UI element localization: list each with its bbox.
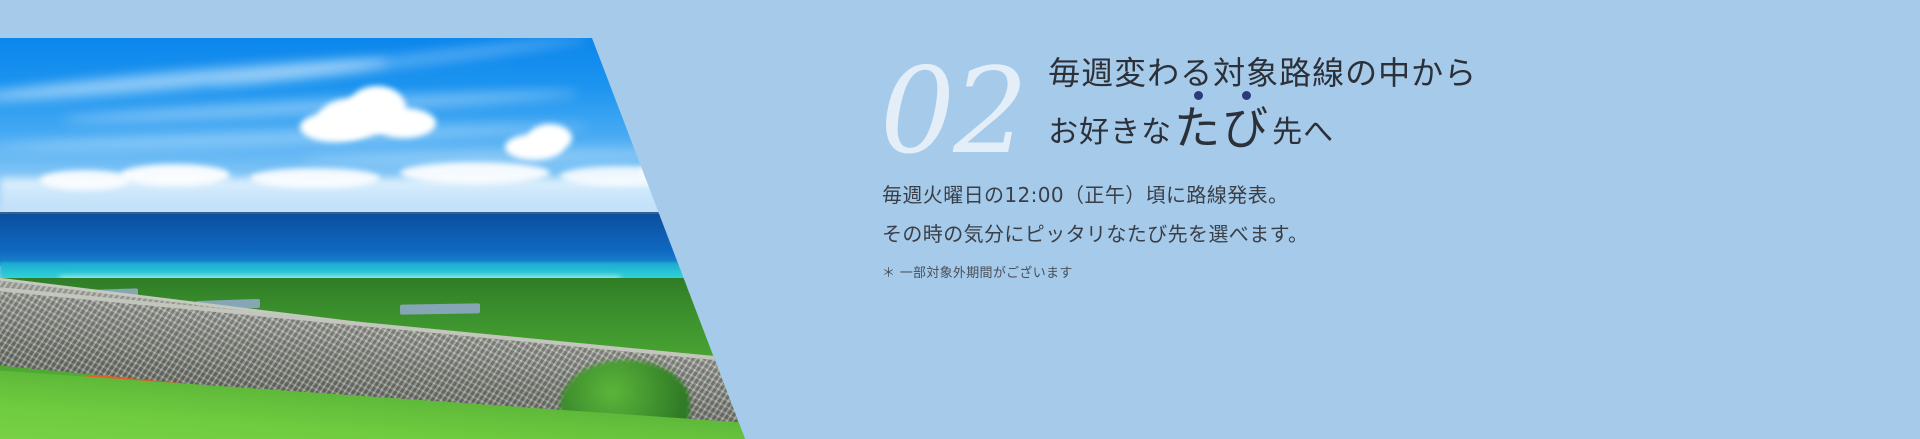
deep-ocean-region: [0, 214, 760, 266]
cloud-puff: [300, 112, 370, 142]
headline-block: 毎週変わる対象路線の中から お好きな たび 先へ: [1048, 50, 1477, 151]
headline-emphasis-tabi: たび: [1174, 107, 1270, 151]
footnote: ＊ 一部対象外期間がございます: [882, 262, 1308, 281]
banner-content: 02 毎週変わる対象路線の中から お好きな たび 先へ 毎週火曜: [880, 0, 1920, 439]
body-line-2: その時の気分にピッタリなたび先を選べます。: [882, 215, 1308, 254]
headline-line-2: お好きな たび 先へ: [1048, 107, 1477, 151]
building-roof-blue: [400, 303, 480, 314]
headline-line-2-suffix: 先へ: [1272, 115, 1334, 151]
headline-line-2-prefix: お好きな: [1048, 115, 1172, 151]
headline-emphasis-text: たび: [1174, 101, 1270, 155]
photo-canvas: [0, 38, 760, 439]
campaign-banner: 02 毎週変わる対象路線の中から お好きな たび 先へ 毎週火曜: [0, 0, 1920, 439]
scenery-photo: [0, 38, 760, 439]
step-number: 02: [880, 52, 1026, 170]
cloud-puff: [528, 124, 572, 152]
cloud-puff: [372, 108, 436, 138]
headline-line-1: 毎週変わる対象路線の中から: [1048, 54, 1477, 93]
headline-row: 02 毎週変わる対象路線の中から お好きな たび 先へ: [880, 50, 1477, 170]
body-line-1: 毎週火曜日の12:00（正午）頃に路線発表。: [882, 176, 1308, 215]
body-text-block: 毎週火曜日の12:00（正午）頃に路線発表。 その時の気分にピッタリなたび先を選…: [882, 176, 1308, 281]
cloud-puff: [640, 158, 730, 182]
